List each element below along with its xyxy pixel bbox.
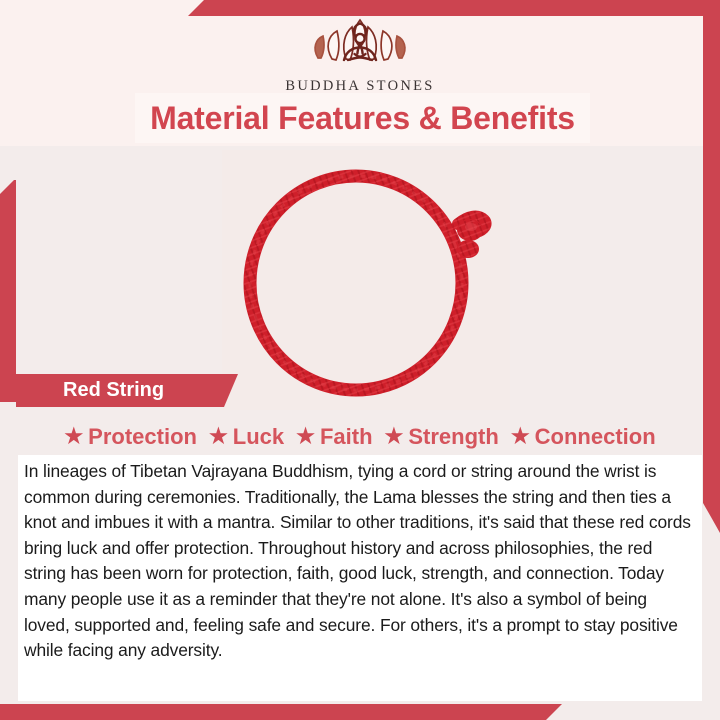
benefit-protection: ★ Protection — [58, 424, 203, 450]
product-tag-label: Red String — [63, 374, 164, 407]
benefit-label: Connection — [535, 424, 656, 450]
star-icon: ★ — [385, 426, 404, 447]
star-icon: ★ — [296, 426, 315, 447]
benefit-strength: ★ Strength — [379, 424, 505, 450]
star-icon: ★ — [209, 426, 228, 447]
benefit-faith: ★ Faith — [290, 424, 378, 450]
product-image — [222, 150, 510, 410]
benefit-connection: ★ Connection — [505, 424, 662, 450]
lotus-meditation-icon — [0, 14, 720, 77]
infographic-page: BUDDHA STONES Material Features & Benefi… — [0, 0, 720, 720]
benefit-label: Protection — [88, 424, 197, 450]
benefit-label: Strength — [408, 424, 498, 450]
benefits-row: ★ Protection ★ Luck ★ Faith ★ Strength ★… — [16, 418, 704, 456]
brand-logo: BUDDHA STONES — [0, 14, 720, 95]
page-title: Material Features & Benefits — [135, 94, 590, 142]
star-icon: ★ — [511, 426, 530, 447]
decorative-left-bar — [0, 180, 16, 402]
star-icon: ★ — [64, 426, 83, 447]
benefit-luck: ★ Luck — [203, 424, 290, 450]
benefit-label: Luck — [233, 424, 284, 450]
description-text: In lineages of Tibetan Vajrayana Buddhis… — [24, 459, 696, 664]
red-string-bracelet-loop — [250, 176, 486, 390]
benefit-label: Faith — [320, 424, 373, 450]
